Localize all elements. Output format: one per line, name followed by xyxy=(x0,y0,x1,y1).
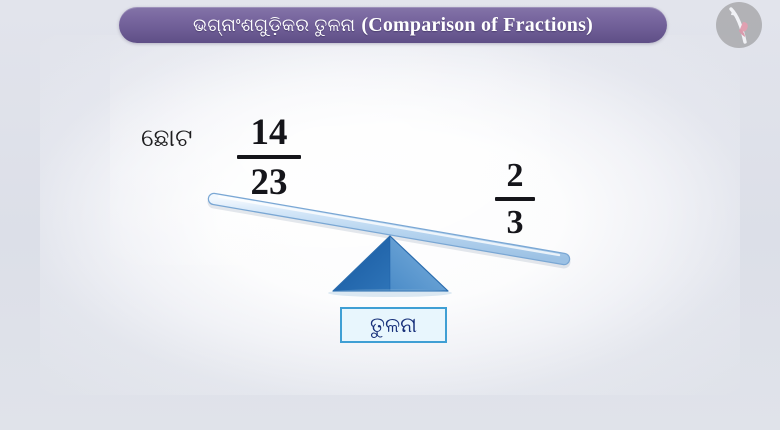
left-fraction-bar xyxy=(237,155,301,159)
background-base xyxy=(0,0,780,430)
left-side-label: ଛୋଟ xyxy=(141,124,192,153)
left-fraction-numerator: 14 xyxy=(237,114,301,151)
right-fraction: 2 3 xyxy=(495,159,535,240)
comparison-caption-text: ତୁଳନା xyxy=(370,315,417,336)
slide-canvas: ଭଗ୍ନାଂଶଗୁଡ଼ିକର ତୁଳନା (Comparison of Frac… xyxy=(0,0,780,430)
comparison-caption-box: ତୁଳନା xyxy=(340,307,447,343)
left-fraction: 14 23 xyxy=(237,114,301,201)
title-odia-text: ଭଗ୍ନାଂଶଗୁଡ଼ିକର ତୁଳନା xyxy=(193,16,361,34)
channel-logo-icon xyxy=(716,2,762,48)
title-english-text: (Comparison of Fractions) xyxy=(361,15,593,35)
left-fraction-denominator: 23 xyxy=(237,164,301,201)
title-banner: ଭଗ୍ନାଂଶଗୁଡ଼ିକର ତୁଳନା (Comparison of Frac… xyxy=(119,7,667,43)
right-fraction-denominator: 3 xyxy=(495,206,535,240)
right-fraction-bar xyxy=(495,197,535,201)
right-fraction-numerator: 2 xyxy=(495,159,535,193)
